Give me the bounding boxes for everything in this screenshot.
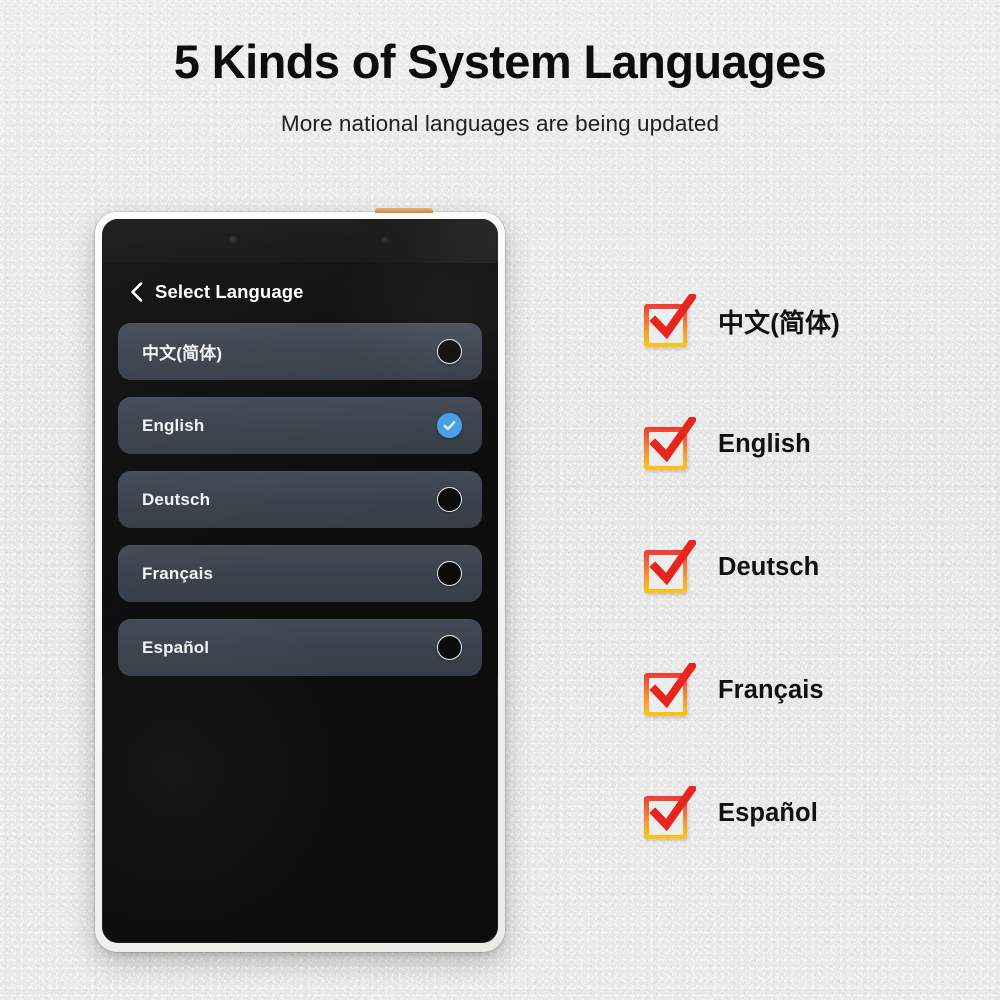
page-subtitle: More national languages are being update…	[0, 111, 1000, 137]
checklist-item: English	[642, 414, 972, 474]
checkbox-checked-icon	[642, 417, 696, 471]
tablet-screen: Select Language 中文(简体) English Deutsch	[102, 219, 498, 943]
checklist-item: Français	[642, 660, 972, 720]
checklist-label: Español	[718, 799, 818, 828]
language-list: 中文(简体) English Deutsch Français	[102, 317, 498, 676]
checklist-item: Deutsch	[642, 537, 972, 597]
header: 5 Kinds of System Languages More nationa…	[0, 34, 1000, 137]
checkbox-checked-icon	[642, 294, 696, 348]
checkbox-checked-icon	[642, 786, 696, 840]
power-button[interactable]	[375, 208, 433, 213]
tick-icon	[648, 417, 696, 467]
tick-icon	[648, 540, 696, 590]
radio-selected-icon[interactable]	[437, 413, 462, 438]
radio-unselected-icon[interactable]	[437, 487, 462, 512]
tick-icon	[648, 294, 696, 344]
tablet-device: Select Language 中文(简体) English Deutsch	[95, 212, 505, 952]
back-chevron-icon[interactable]	[130, 282, 143, 302]
language-label: English	[142, 416, 204, 436]
language-checklist: 中文(简体) English Deutsch Français	[642, 291, 972, 843]
check-icon	[442, 418, 457, 433]
page-title: 5 Kinds of System Languages	[0, 34, 1000, 89]
radio-unselected-icon[interactable]	[437, 339, 462, 364]
tick-icon	[648, 663, 696, 713]
checkbox-checked-icon	[642, 663, 696, 717]
language-label: 中文(简体)	[142, 339, 222, 364]
language-label: Deutsch	[142, 490, 210, 510]
radio-unselected-icon[interactable]	[437, 561, 462, 586]
radio-unselected-icon[interactable]	[437, 635, 462, 660]
checklist-label: English	[718, 430, 811, 459]
language-label: Français	[142, 564, 213, 584]
language-row-fr[interactable]: Français	[118, 545, 482, 602]
checklist-item: 中文(简体)	[642, 291, 972, 351]
language-row-en[interactable]: English	[118, 397, 482, 454]
checkbox-checked-icon	[642, 540, 696, 594]
screen-header: Select Language	[102, 263, 498, 317]
language-row-de[interactable]: Deutsch	[118, 471, 482, 528]
tick-icon	[648, 786, 696, 836]
language-label: Español	[142, 638, 209, 658]
language-row-zh[interactable]: 中文(简体)	[118, 323, 482, 380]
camera-icon	[229, 236, 238, 243]
screen-top-bar	[102, 219, 498, 263]
checklist-item: Español	[642, 783, 972, 843]
language-row-es[interactable]: Español	[118, 619, 482, 676]
checklist-label: Français	[718, 676, 824, 705]
checklist-label: Deutsch	[718, 553, 819, 582]
screen-glare	[386, 219, 498, 263]
screen-title: Select Language	[155, 281, 304, 303]
checklist-label: 中文(简体)	[718, 303, 840, 340]
